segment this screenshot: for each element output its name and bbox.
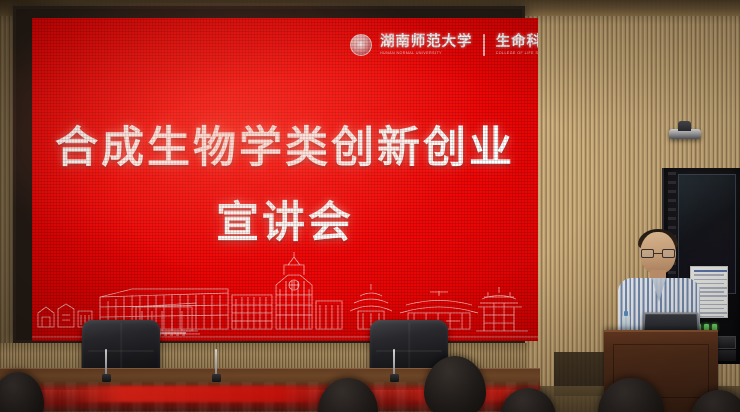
wall-speaker-icon bbox=[669, 129, 701, 139]
college-name-cn: 生命科学学院 bbox=[496, 35, 538, 50]
logo-divider bbox=[483, 34, 484, 56]
university-seal-icon bbox=[350, 34, 372, 56]
glasses-icon bbox=[641, 249, 675, 258]
stage-red-light bbox=[70, 386, 330, 402]
college-name-en: COLLEGE OF LIFE SCIENCES bbox=[496, 52, 538, 56]
slide-logo-bar: 湖南师范大学 HUNAN NORMAL UNIVERSITY 生命科学学院 CO… bbox=[350, 30, 538, 60]
university-name-en: HUNAN NORMAL UNIVERSITY bbox=[380, 52, 472, 56]
college-name-block: 生命科学学院 COLLEGE OF LIFE SCIENCES bbox=[496, 35, 538, 56]
university-name-block: 湖南师范大学 HUNAN NORMAL UNIVERSITY bbox=[380, 35, 472, 56]
led-screen-frame: 湖南师范大学 HUNAN NORMAL UNIVERSITY 生命科学学院 CO… bbox=[13, 6, 525, 343]
university-name-cn: 湖南师范大学 bbox=[380, 35, 472, 50]
lecture-hall-scene: 湖南师范大学 HUNAN NORMAL UNIVERSITY 生命科学学院 CO… bbox=[0, 0, 740, 412]
slide-title-line2: 宣讲会 bbox=[32, 188, 538, 250]
led-screen: 湖南师范大学 HUNAN NORMAL UNIVERSITY 生命科学学院 CO… bbox=[32, 18, 538, 341]
slide-title-line1: 合成生物学类创新创业 bbox=[32, 113, 538, 175]
